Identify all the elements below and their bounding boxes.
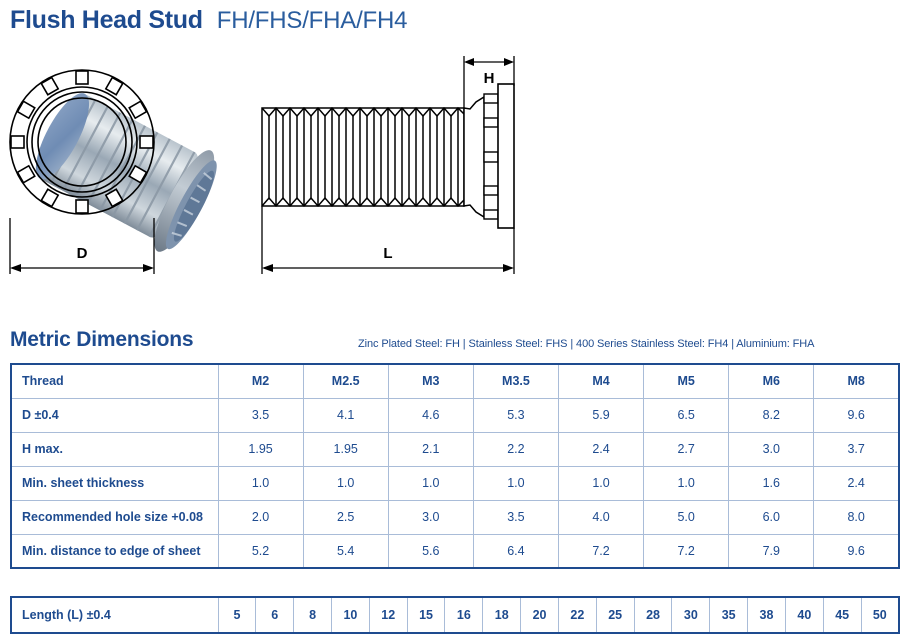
table-cell: 5.2 (218, 534, 303, 568)
length-cell: 50 (861, 597, 899, 633)
thread-size-header: M5 (644, 364, 729, 398)
table-cell: 3.5 (218, 398, 303, 432)
metric-dimensions-table: ThreadM2M2.5M3M3.5M4M5M6M8D ±0.43.54.14.… (10, 363, 900, 569)
side-view-drawing: H L (248, 46, 538, 296)
length-table-body: Length (L) ±0.45681012151618202225283035… (11, 597, 899, 633)
thread-size-header: M8 (814, 364, 899, 398)
length-table: Length (L) ±0.45681012151618202225283035… (10, 596, 900, 634)
table-row: Min. sheet thickness1.01.01.01.01.01.01.… (11, 466, 899, 500)
table-cell: 1.0 (473, 466, 558, 500)
table-cell: 2.4 (814, 466, 899, 500)
length-cell: 8 (294, 597, 332, 633)
length-cell: 28 (634, 597, 672, 633)
length-cell: 22 (558, 597, 596, 633)
top-view-drawing: D (4, 46, 204, 296)
table-cell: 3.7 (814, 432, 899, 466)
section-heading: Metric Dimensions (10, 328, 193, 352)
table-cell: 2.5 (303, 500, 388, 534)
table-cell: 1.95 (303, 432, 388, 466)
table-cell: 8.2 (729, 398, 814, 432)
table-cell: 7.2 (559, 534, 644, 568)
row-label: Recommended hole size +0.08 (11, 500, 218, 534)
head-plate (498, 84, 514, 228)
length-row-label: Length (L) ±0.4 (11, 597, 218, 633)
length-cell: 30 (672, 597, 710, 633)
table-cell: 2.1 (388, 432, 473, 466)
table-header-row: ThreadM2M2.5M3M3.5M4M5M6M8 (11, 364, 899, 398)
table-cell: 1.0 (559, 466, 644, 500)
thread-size-header: M4 (559, 364, 644, 398)
table-cell: 9.6 (814, 534, 899, 568)
length-cell: 5 (218, 597, 256, 633)
length-cell: 20 (521, 597, 559, 633)
table-cell: 5.0 (644, 500, 729, 534)
table-cell: 3.5 (473, 500, 558, 534)
table-cell: 2.4 (559, 432, 644, 466)
header-label-thread: Thread (11, 364, 218, 398)
table-cell: 4.1 (303, 398, 388, 432)
row-label: Min. sheet thickness (11, 466, 218, 500)
table-cell: 2.2 (473, 432, 558, 466)
row-label: Min. distance to edge of sheet (11, 534, 218, 568)
dimension-label-d: D (77, 245, 88, 262)
length-cell: 40 (785, 597, 823, 633)
length-cell: 45 (823, 597, 861, 633)
table-cell: 4.6 (388, 398, 473, 432)
table-cell: 9.6 (814, 398, 899, 432)
table-cell: 1.0 (303, 466, 388, 500)
product-name: Flush Head Stud (10, 6, 203, 35)
table-row: Min. distance to edge of sheet5.25.45.66… (11, 534, 899, 568)
dimension-label-h: H (484, 70, 495, 87)
table-cell: 3.0 (729, 432, 814, 466)
table-cell: 6.5 (644, 398, 729, 432)
table-cell: 2.7 (644, 432, 729, 466)
table-cell: 3.0 (388, 500, 473, 534)
length-cell: 38 (748, 597, 786, 633)
head-knurl-teeth (484, 94, 498, 219)
length-row: Length (L) ±0.45681012151618202225283035… (11, 597, 899, 633)
material-legend: Zinc Plated Steel: FH | Stainless Steel:… (358, 338, 814, 350)
table-cell: 1.95 (218, 432, 303, 466)
dimension-label-l: L (383, 245, 392, 262)
table-cell: 7.2 (644, 534, 729, 568)
table-cell: 6.0 (729, 500, 814, 534)
table-cell: 7.9 (729, 534, 814, 568)
table-cell: 5.3 (473, 398, 558, 432)
head-undercut (464, 97, 484, 217)
table-row: H max.1.951.952.12.22.42.73.03.7 (11, 432, 899, 466)
thread-size-header: M3.5 (473, 364, 558, 398)
table-cell: 5.4 (303, 534, 388, 568)
metric-table-body: ThreadM2M2.5M3M3.5M4M5M6M8D ±0.43.54.14.… (11, 364, 899, 568)
row-label: D ±0.4 (11, 398, 218, 432)
length-cell: 16 (445, 597, 483, 633)
thread-size-header: M3 (388, 364, 473, 398)
thread-size-header: M2 (218, 364, 303, 398)
drawing-area: D (0, 46, 910, 296)
table-row: D ±0.43.54.14.65.35.96.58.29.6 (11, 398, 899, 432)
table-cell: 1.0 (218, 466, 303, 500)
table-cell: 8.0 (814, 500, 899, 534)
table-cell: 4.0 (559, 500, 644, 534)
page-title: Flush Head Stud FH/FHS/FHA/FH4 (10, 6, 407, 35)
table-cell: 5.9 (559, 398, 644, 432)
length-cell: 15 (407, 597, 445, 633)
product-codes: FH/FHS/FHA/FH4 (217, 7, 408, 35)
table-cell: 1.0 (644, 466, 729, 500)
length-cell: 35 (710, 597, 748, 633)
table-cell: 5.6 (388, 534, 473, 568)
length-cell: 10 (331, 597, 369, 633)
length-cell: 18 (483, 597, 521, 633)
row-label: H max. (11, 432, 218, 466)
dimension-line-l (262, 206, 514, 274)
table-row: Recommended hole size +0.082.02.53.03.54… (11, 500, 899, 534)
table-cell: 6.4 (473, 534, 558, 568)
length-cell: 25 (596, 597, 634, 633)
length-cell: 6 (256, 597, 294, 633)
table-cell: 2.0 (218, 500, 303, 534)
table-cell: 1.6 (729, 466, 814, 500)
thread-size-header: M2.5 (303, 364, 388, 398)
length-cell: 12 (369, 597, 407, 633)
thread-size-header: M6 (729, 364, 814, 398)
table-cell: 1.0 (388, 466, 473, 500)
